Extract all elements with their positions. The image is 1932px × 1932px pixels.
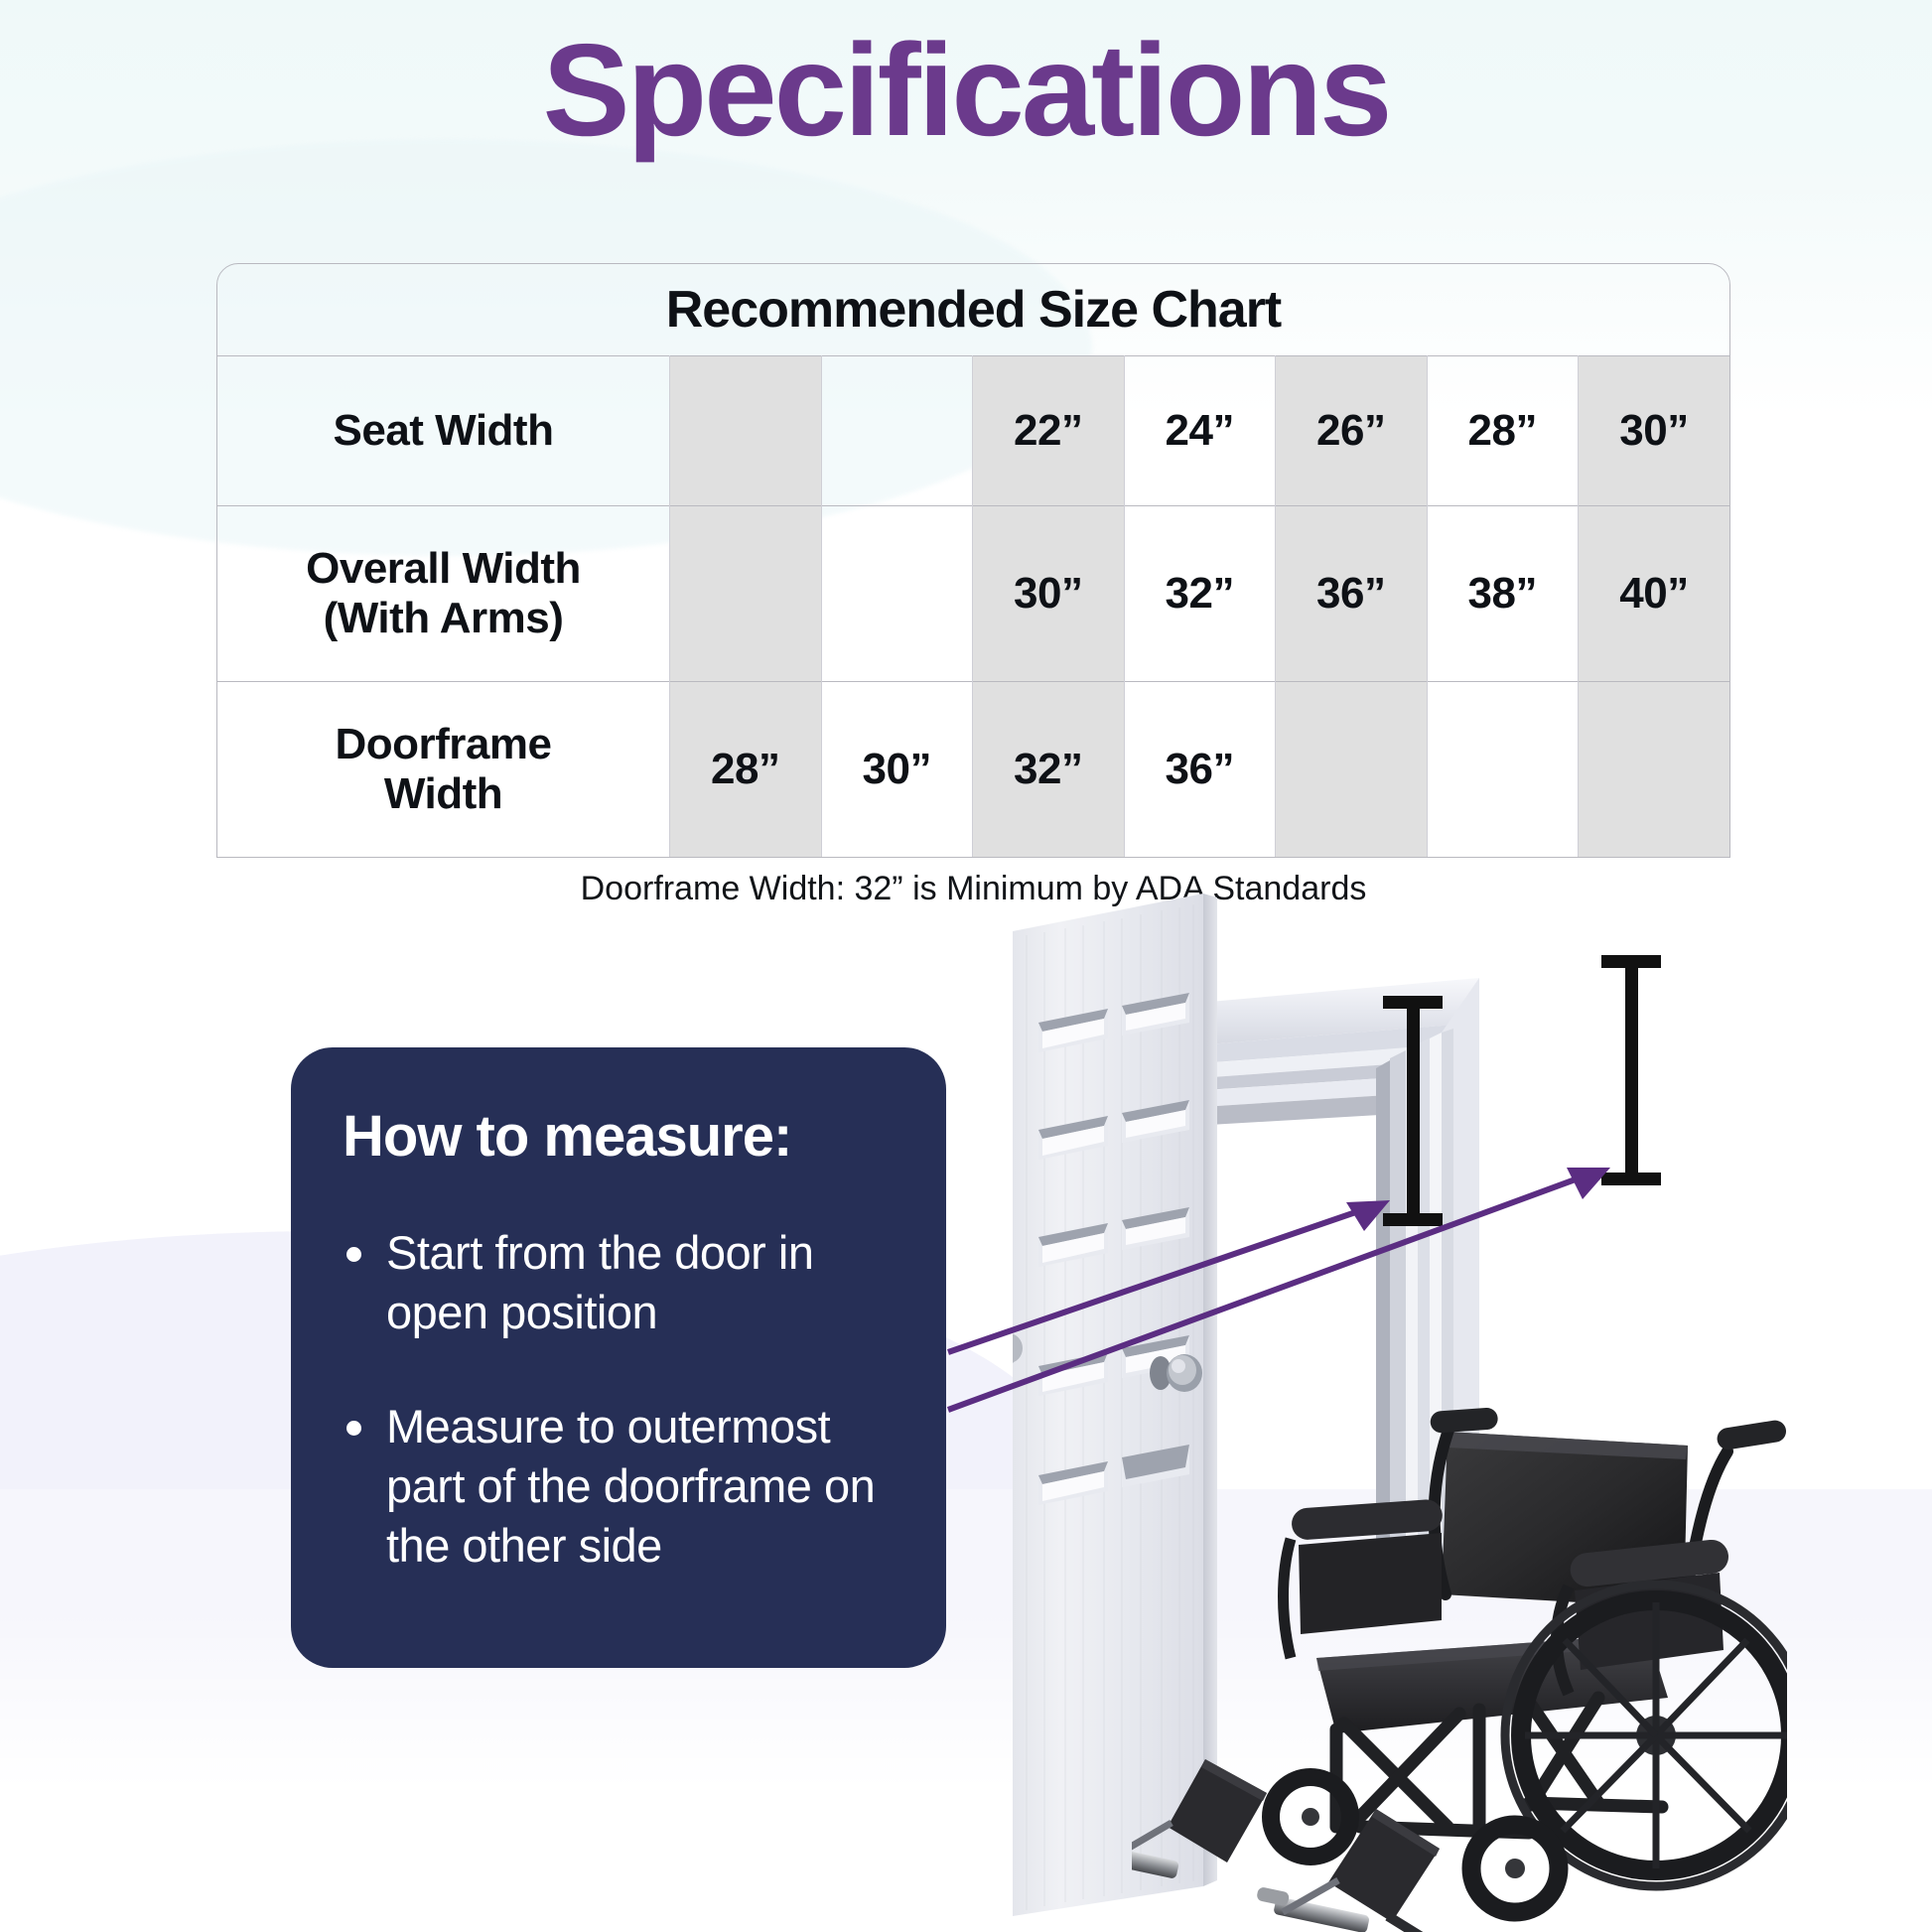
cell-door-0: 28” — [670, 682, 822, 858]
cell-seat-6: 30” — [1579, 356, 1730, 506]
size-chart-card: Recommended Size Chart Seat Width 22” 24… — [216, 263, 1730, 858]
row-label-doorframe-width: Doorframe Width — [217, 682, 670, 858]
cell-seat-4: 26” — [1276, 356, 1428, 506]
row-label-overall-width: Overall Width (With Arms) — [217, 506, 670, 682]
cell-overall-5: 38” — [1427, 506, 1579, 682]
cell-door-5 — [1427, 682, 1579, 858]
cell-seat-5: 28” — [1427, 356, 1579, 506]
cell-overall-0 — [670, 506, 822, 682]
callout-bullet-2: Measure to outermost part of the doorfra… — [343, 1397, 895, 1575]
row-label-line2: Width — [217, 769, 669, 819]
row-label-line2: (With Arms) — [217, 594, 669, 643]
cell-overall-2: 30” — [973, 506, 1125, 682]
cell-overall-3: 32” — [1124, 506, 1276, 682]
cell-seat-2: 22” — [973, 356, 1125, 506]
cell-door-2: 32” — [973, 682, 1125, 858]
wheelchair-legrest-left — [1168, 1759, 1267, 1863]
cell-door-6 — [1579, 682, 1730, 858]
row-label-seat-width: Seat Width — [217, 356, 670, 506]
size-chart-table: Seat Width 22” 24” 26” 28” 30” Overall W… — [217, 355, 1729, 857]
row-label-line1: Doorframe — [217, 720, 669, 769]
page-title: Specifications — [0, 22, 1932, 160]
wheelchair-illustration — [1132, 1360, 1787, 1932]
table-row: Seat Width 22” 24” 26” 28” 30” — [217, 356, 1729, 506]
cell-seat-1 — [821, 356, 973, 506]
wheelchair-armrest-left — [1284, 1498, 1444, 1658]
cell-door-1: 30” — [821, 682, 973, 858]
cell-seat-3: 24” — [1124, 356, 1276, 506]
callout-bullet-1: Start from the door in open position — [343, 1223, 895, 1341]
table-row: Overall Width (With Arms) 30” 32” 36” 38… — [217, 506, 1729, 682]
table-row: Doorframe Width 28” 30” 32” 36” — [217, 682, 1729, 858]
callout-heading: How to measure: — [343, 1103, 895, 1170]
callout-bullet-list: Start from the door in open position Mea… — [343, 1223, 895, 1575]
how-to-measure-callout: How to measure: Start from the door in o… — [291, 1047, 946, 1668]
cell-seat-0 — [670, 356, 822, 506]
cell-overall-6: 40” — [1579, 506, 1730, 682]
table-title: Recommended Size Chart — [217, 264, 1729, 355]
cell-door-4 — [1276, 682, 1428, 858]
cell-door-3: 36” — [1124, 682, 1276, 858]
cell-overall-4: 36” — [1276, 506, 1428, 682]
specifications-infographic: Specifications Recommended Size Chart Se… — [0, 0, 1932, 1932]
row-label-line1: Overall Width — [217, 544, 669, 594]
cell-overall-1 — [821, 506, 973, 682]
